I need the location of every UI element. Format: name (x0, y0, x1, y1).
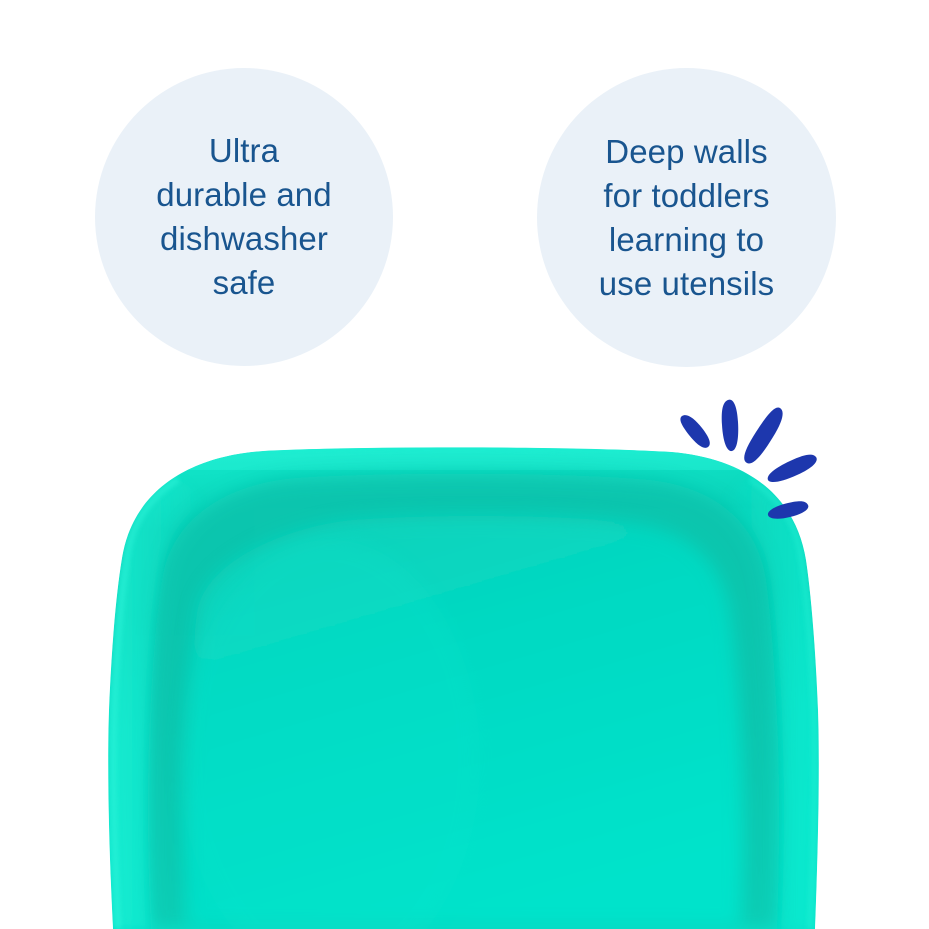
sparkle-ray-4 (768, 455, 817, 482)
sparkle-burst-icon (660, 395, 830, 545)
badge-label: Deep walls for toddlers learning to use … (585, 130, 788, 306)
badge-label: Ultra durable and dishwasher safe (142, 129, 345, 305)
badge-deep-walls-toddlers-utensils: Deep walls for toddlers learning to use … (537, 68, 836, 367)
sparkle-ray-3 (744, 407, 782, 463)
sparkle-ray-5 (768, 501, 808, 518)
sparkle-ray-2 (722, 400, 739, 451)
badge-ultra-durable-dishwasher-safe: Ultra durable and dishwasher safe (95, 68, 393, 366)
product-feature-graphic: Ultra durable and dishwasher safe Deep w… (0, 0, 929, 929)
sparkle-rays (680, 400, 816, 519)
sparkle-ray-1 (680, 415, 709, 448)
